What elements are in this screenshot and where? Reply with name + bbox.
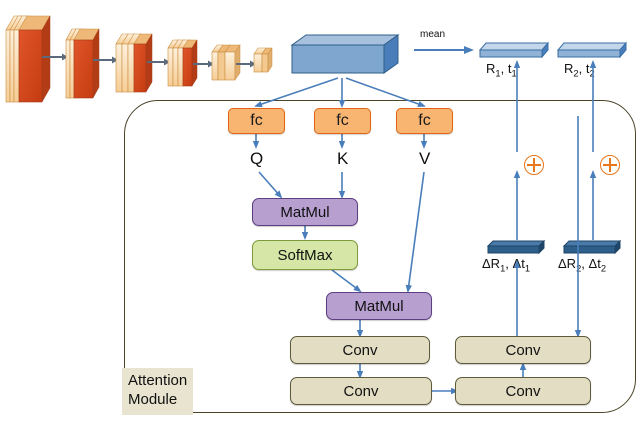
fc-box-1[interactable]: fc	[228, 108, 285, 134]
conv-box-left-top[interactable]: Conv	[290, 336, 430, 364]
softmax-box[interactable]: SoftMax	[252, 240, 358, 270]
fc-box-3[interactable]: fc	[396, 108, 453, 134]
attention-module-label: Attention Module	[122, 368, 193, 415]
attention-module-label-line1: Attention	[128, 372, 187, 391]
matmul-box-1[interactable]: MatMul	[252, 198, 358, 226]
diagram-canvas: mean R1, t1 R2, t2 ΔR1, Δt1 ΔR2, Δt2	[0, 0, 640, 427]
query-label: Q	[250, 150, 263, 168]
fc-box-2[interactable]: fc	[314, 108, 371, 134]
key-label: K	[337, 150, 348, 168]
conv-box-right-bottom[interactable]: Conv	[455, 377, 591, 405]
conv-box-right-top[interactable]: Conv	[455, 336, 591, 364]
attention-module-label-line2: Module	[128, 391, 187, 410]
value-label: V	[419, 150, 430, 168]
conv-box-left-bottom[interactable]: Conv	[290, 377, 432, 405]
matmul-box-2[interactable]: MatMul	[326, 292, 432, 320]
